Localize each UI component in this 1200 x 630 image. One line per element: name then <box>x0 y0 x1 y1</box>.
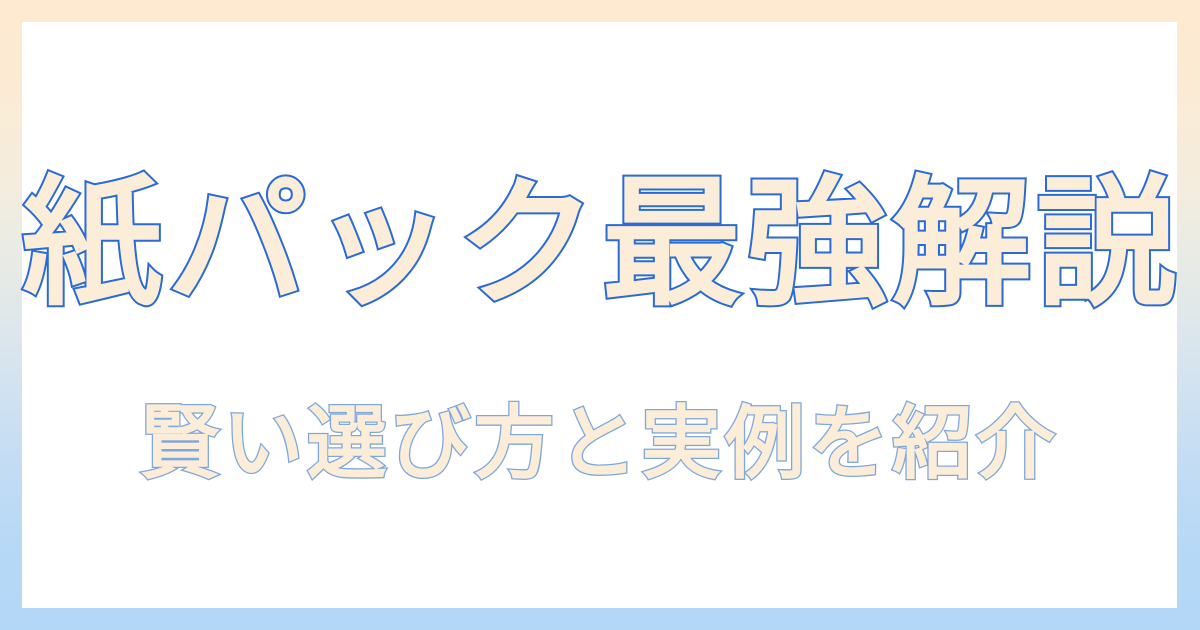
page-subtitle: 賢い選び方と実例を紹介 <box>22 404 1177 484</box>
page-title: 紙パック最強解説 <box>22 174 1177 314</box>
content-card: 紙パック最強解説 賢い選び方と実例を紹介 <box>22 22 1177 608</box>
poster-canvas: 紙パック最強解説 賢い選び方と実例を紹介 <box>0 0 1200 630</box>
